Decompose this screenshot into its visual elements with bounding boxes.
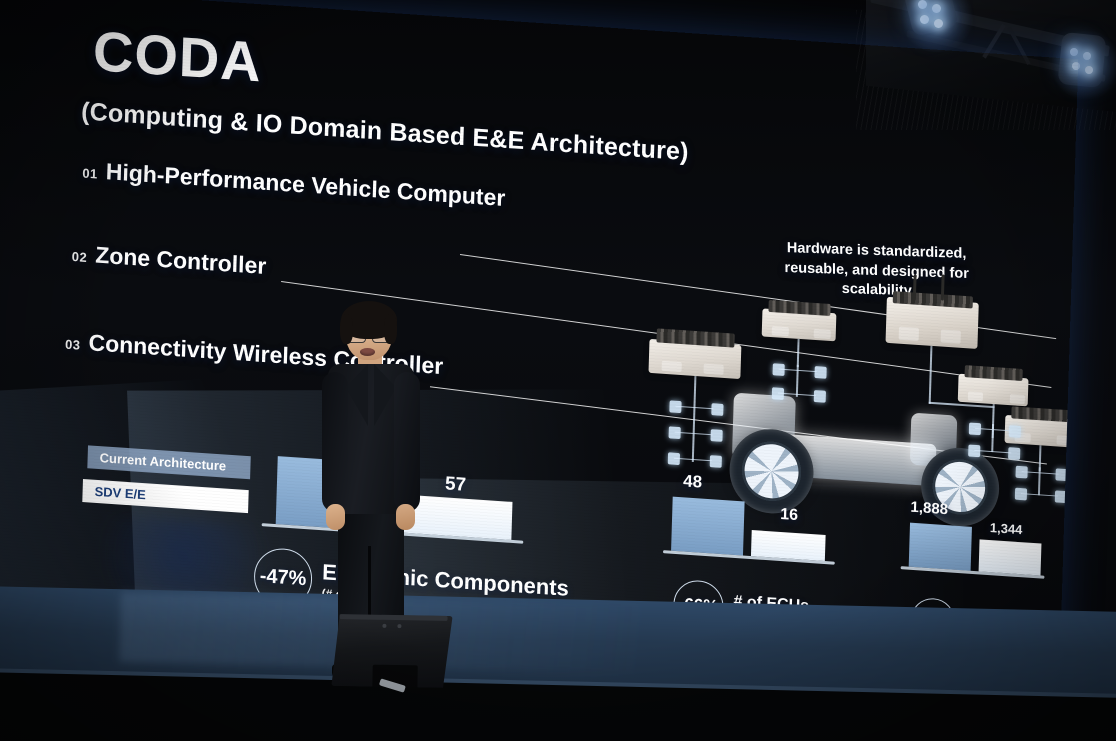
bar-value-sdv: 16 (780, 506, 798, 525)
hardware-caption: Hardware is standardized, reusable, and … (762, 238, 992, 304)
led-lamp (1085, 66, 1093, 74)
ecu-module-zone-rear-right (958, 374, 1029, 407)
legend-current-architecture: Current Architecture (87, 445, 250, 479)
slide-title: CODA (92, 23, 262, 90)
presenter-hand-left (326, 504, 345, 530)
presenter-mouth (360, 348, 375, 356)
presenter-arm-left (322, 372, 348, 512)
bar-value-sdv: 1,344 (990, 520, 1023, 537)
bar-current-architecture (909, 523, 972, 571)
bar-current-architecture (671, 497, 745, 556)
bar-value-current: 1,888 (910, 499, 948, 519)
architecture-list-item-01: 01 High-Performance Vehicle Computer (82, 157, 506, 212)
ecu-module-zone-front-left (648, 339, 741, 379)
chart-wiring-harness: 1,888 1,344 (901, 522, 1042, 575)
ecu-module-zone-center (762, 308, 837, 341)
bar-sdv-ee (979, 539, 1042, 575)
bus-line (797, 339, 799, 367)
speaker-screw (397, 624, 401, 628)
io-branch (692, 400, 695, 462)
led-lamp (1083, 52, 1091, 60)
legend-sdv-ee: SDV E/E (82, 479, 248, 513)
led-lamp (1070, 48, 1078, 56)
architecture-list-item-02: 02 Zone Controller (71, 240, 266, 280)
vehicle-chassis (713, 373, 986, 501)
list-item-label: Zone Controller (95, 242, 267, 280)
vehicle-architecture-diagram (635, 302, 1070, 531)
slide-subtitle: (Computing & IO Domain Based E&E Archite… (81, 97, 689, 167)
presenter-hair-side-left (340, 314, 353, 344)
led-lamp (920, 15, 929, 24)
legend-label: SDV E/E (94, 484, 146, 502)
bar-value-sdv: 57 (445, 473, 467, 496)
presenter-hair-side-right (384, 314, 397, 344)
stage-monitor-speaker (331, 614, 452, 688)
list-item-number: 02 (72, 249, 88, 265)
bar-value-current: 48 (683, 471, 703, 492)
presenter-hand-right (396, 504, 415, 530)
chart-number-of-ecus: 48 16 (663, 496, 834, 561)
conference-stage-photo: CODA (Computing & IO Domain Based E&E Ar… (0, 0, 1116, 741)
led-lamp (918, 0, 927, 9)
list-item-number: 03 (65, 337, 81, 353)
presenter-arm-right (394, 372, 420, 512)
legend-label: Current Architecture (99, 450, 226, 474)
led-lamp (934, 19, 943, 28)
led-lamp (932, 4, 941, 13)
list-item-number: 01 (82, 166, 98, 182)
high-performance-vehicle-computer-module (886, 297, 979, 349)
list-item-label: High-Performance Vehicle Computer (105, 158, 505, 212)
